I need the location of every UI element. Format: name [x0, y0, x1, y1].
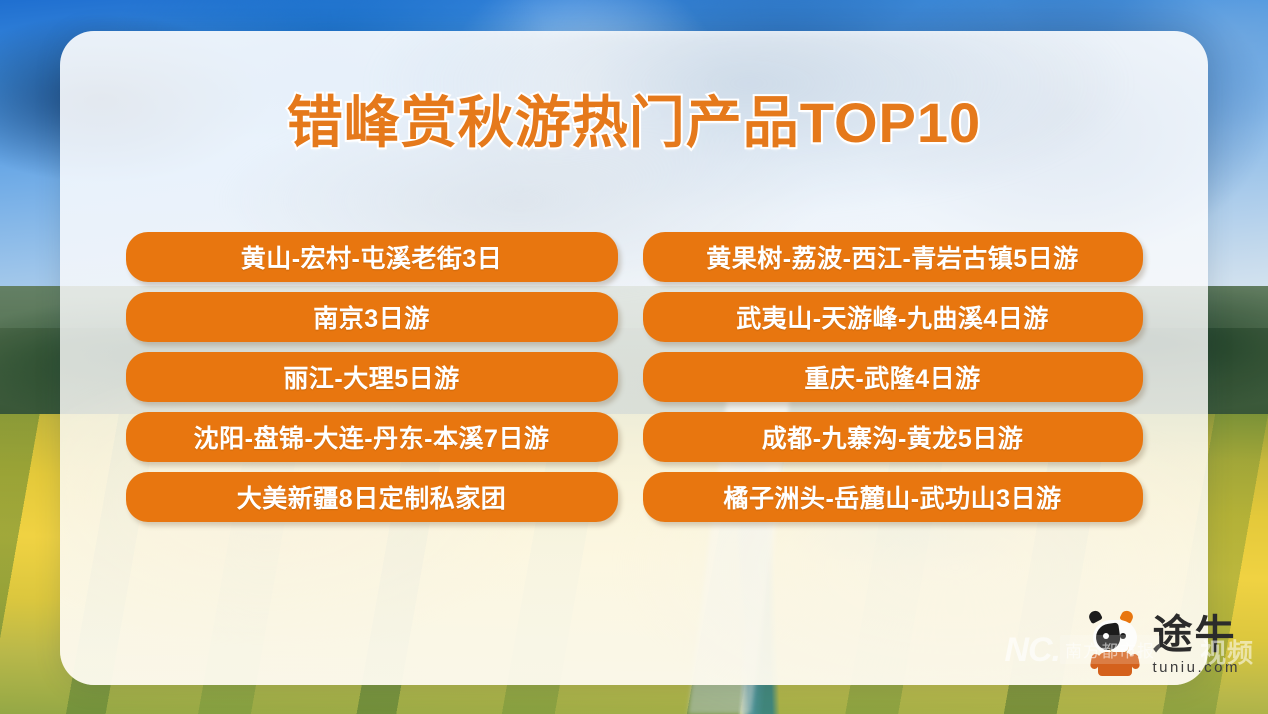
- list-item[interactable]: 重庆-武隆4日游: [643, 352, 1143, 402]
- tuniu-cow-mascot-icon: [1087, 610, 1143, 676]
- brand-logo: 途牛 tuniu.com: [1087, 610, 1240, 676]
- list-item[interactable]: 黄果树-荔波-西江-青岩古镇5日游: [643, 232, 1143, 282]
- brand-name-cn: 途牛: [1152, 615, 1236, 655]
- list-item-label: 沈阳-盘锦-大连-丹东-本溪7日游: [194, 419, 550, 455]
- product-list: 黄山-宏村-屯溪老街3日 南京3日游 丽江-大理5日游 沈阳-盘锦-大连-丹东-…: [0, 232, 1268, 522]
- list-item[interactable]: 黄山-宏村-屯溪老街3日: [126, 232, 618, 282]
- product-list-left-column: 黄山-宏村-屯溪老街3日 南京3日游 丽江-大理5日游 沈阳-盘锦-大连-丹东-…: [126, 232, 618, 522]
- brand-text: 途牛 tuniu.com: [1152, 615, 1240, 676]
- list-item[interactable]: 大美新疆8日定制私家团: [126, 472, 618, 522]
- list-item-label: 武夷山-天游峰-九曲溪4日游: [736, 299, 1049, 335]
- product-list-right-column: 黄果树-荔波-西江-青岩古镇5日游 武夷山-天游峰-九曲溪4日游 重庆-武隆4日…: [643, 232, 1143, 522]
- list-item-label: 重庆-武隆4日游: [804, 359, 980, 395]
- list-item[interactable]: 南京3日游: [126, 292, 618, 342]
- list-item-label: 黄山-宏村-屯溪老街3日: [241, 239, 503, 275]
- list-item-label: 黄果树-荔波-西江-青岩古镇5日游: [706, 239, 1078, 275]
- list-item-label: 成都-九寨沟-黄龙5日游: [762, 419, 1024, 455]
- list-item[interactable]: 成都-九寨沟-黄龙5日游: [643, 412, 1143, 462]
- list-item-label: 大美新疆8日定制私家团: [237, 479, 506, 515]
- list-item-label: 丽江-大理5日游: [283, 359, 459, 395]
- page-title: 错峰赏秋游热门产品TOP10: [0, 78, 1268, 159]
- list-item[interactable]: 橘子洲头-岳麓山-武功山3日游: [643, 472, 1143, 522]
- brand-name-en: tuniu.com: [1152, 659, 1240, 676]
- list-item-label: 橘子洲头-岳麓山-武功山3日游: [723, 479, 1061, 515]
- list-item-label: 南京3日游: [313, 299, 429, 335]
- list-item[interactable]: 丽江-大理5日游: [126, 352, 618, 402]
- list-item[interactable]: 武夷山-天游峰-九曲溪4日游: [643, 292, 1143, 342]
- list-item[interactable]: 沈阳-盘锦-大连-丹东-本溪7日游: [126, 412, 618, 462]
